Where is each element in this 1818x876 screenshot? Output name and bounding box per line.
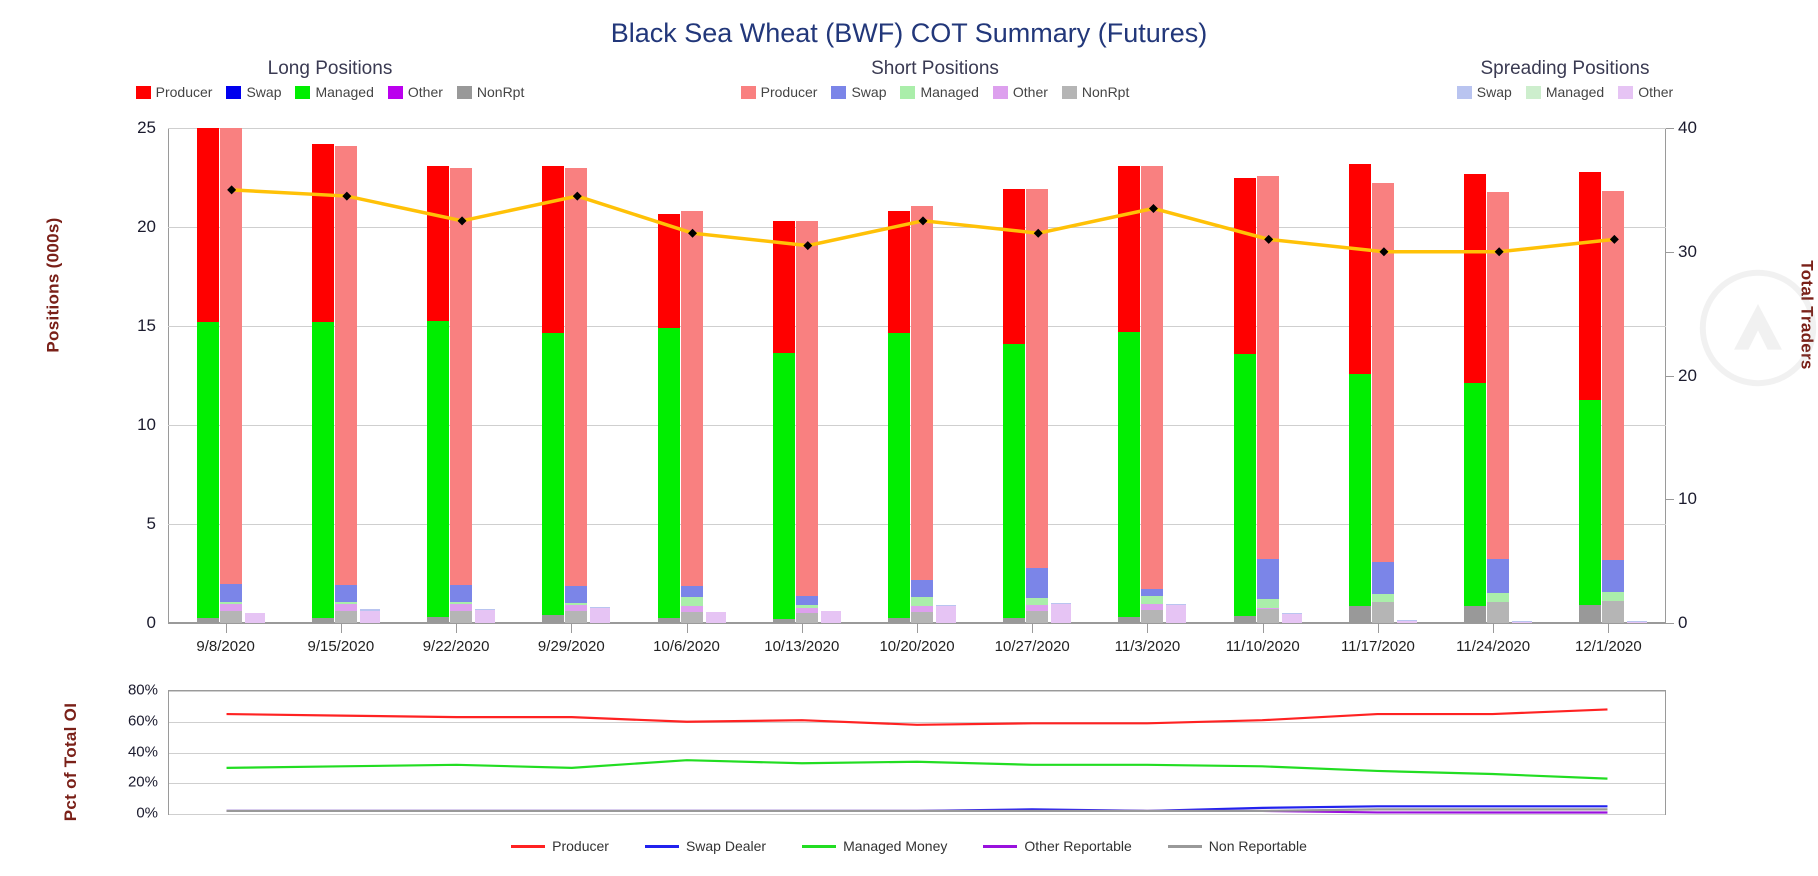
- pct-legend-label: Producer: [552, 838, 609, 854]
- bar-spreading-positions[interactable]: [936, 605, 956, 623]
- bar-long-positions[interactable]: [888, 211, 910, 623]
- pct-legend-label: Non Reportable: [1209, 838, 1307, 854]
- x-axis-tick-label: 10/6/2020: [653, 638, 720, 655]
- legend-item-short-nonrpt[interactable]: NonRpt: [1062, 84, 1129, 100]
- legend-item-short-other[interactable]: Other: [993, 84, 1048, 100]
- bar-spreading-positions[interactable]: [821, 611, 841, 623]
- bar-segment-producer: [1579, 172, 1601, 401]
- bar-segment-swap: [1026, 568, 1048, 599]
- bar-segment-producer: [1118, 166, 1140, 332]
- legend-item-spreading-other[interactable]: Other: [1618, 84, 1673, 100]
- bar-segment-nonrpt: [1349, 606, 1371, 623]
- x-axis-tick-label: 9/15/2020: [307, 638, 374, 655]
- bar-segment-nonrpt: [1372, 602, 1394, 623]
- bar-short-positions[interactable]: [1372, 183, 1394, 623]
- bar-short-positions[interactable]: [796, 221, 818, 623]
- bar-segment-nonrpt: [658, 618, 680, 623]
- swatch-icon: [457, 86, 472, 99]
- bar-segment-swap: [1602, 560, 1624, 593]
- y-axis-right-tick-label: 30: [1678, 242, 1734, 262]
- bar-short-positions[interactable]: [1602, 191, 1624, 623]
- bar-segment-producer: [1234, 178, 1256, 354]
- legend-spreading-heading: Spreading Positions: [1400, 58, 1730, 80]
- bar-segment-nonrpt: [1579, 605, 1601, 623]
- bar-segment-producer: [681, 211, 703, 586]
- pct-legend-item-producer[interactable]: Producer: [511, 838, 609, 854]
- y-axis-left-tick-label: 10: [100, 415, 156, 435]
- swatch-icon: [1457, 86, 1472, 99]
- y-axis-right-tick-mark: [1666, 252, 1674, 253]
- pct-gridline: [169, 814, 1665, 815]
- bar-segment-other: [245, 613, 265, 623]
- line-swatch-icon: [511, 845, 545, 848]
- bar-segment-nonrpt: [1257, 609, 1279, 623]
- bar-spreading-positions[interactable]: [1166, 604, 1186, 623]
- legend-item-long-nonrpt[interactable]: NonRpt: [457, 84, 524, 100]
- y-axis-left-tick-label: 5: [100, 514, 156, 534]
- bar-segment-nonrpt: [1602, 601, 1624, 623]
- bar-segment-nonrpt: [1003, 618, 1025, 623]
- bar-segment-producer: [1141, 166, 1163, 590]
- bar-segment-managed: [197, 322, 219, 618]
- x-axis-tick-label: 11/17/2020: [1341, 638, 1415, 655]
- bar-segment-nonrpt: [911, 612, 933, 623]
- legend-item-short-swap[interactable]: Swap: [831, 84, 886, 100]
- bar-long-positions[interactable]: [658, 214, 680, 623]
- bar-segment-managed: [1141, 596, 1163, 604]
- x-axis-tick-label: 10/27/2020: [995, 638, 1070, 655]
- x-axis-tick-mark: [917, 623, 918, 633]
- legend-label: Other: [1638, 84, 1673, 100]
- legend-item-short-producer[interactable]: Producer: [741, 84, 818, 100]
- swatch-icon: [136, 86, 151, 99]
- bar-short-positions[interactable]: [1141, 166, 1163, 623]
- y-axis-left-tick-label: 0: [100, 613, 156, 633]
- y-axis-left-tick-label: 25: [100, 118, 156, 138]
- pct-legend: Producer Swap Dealer Managed Money Other…: [0, 838, 1818, 854]
- bar-segment-managed: [1118, 332, 1140, 617]
- bar-segment-swap: [565, 586, 587, 603]
- bar-segment-nonrpt: [1118, 617, 1140, 623]
- bar-segment-swap: [450, 585, 472, 602]
- bar-segment-nonrpt: [1487, 602, 1509, 623]
- x-axis-tick-label: 11/10/2020: [1226, 638, 1300, 655]
- pct-axis-tick-label: 80%: [100, 682, 158, 699]
- bar-segment-producer: [911, 206, 933, 580]
- x-axis-tick-label: 9/22/2020: [423, 638, 490, 655]
- bar-segment-other: [1397, 621, 1417, 623]
- legend-label: Other: [1013, 84, 1048, 100]
- bar-segment-nonrpt: [197, 618, 219, 623]
- line-swatch-icon: [802, 845, 836, 848]
- bar-segment-nonrpt: [542, 615, 564, 623]
- x-axis-tick-label: 9/8/2020: [196, 638, 254, 655]
- legend-short-items: Producer Swap Managed Other NonRpt: [720, 84, 1150, 100]
- legend-label: Managed: [920, 84, 978, 100]
- bar-segment-managed: [773, 353, 795, 619]
- legend-label: Swap: [1477, 84, 1512, 100]
- legend-long-positions: Long Positions Producer Swap Managed Oth…: [110, 58, 550, 100]
- y-axis-right-tick-mark: [1666, 376, 1674, 377]
- legend-item-spreading-managed[interactable]: Managed: [1526, 84, 1604, 100]
- pct-legend-label: Other Reportable: [1024, 838, 1131, 854]
- bar-segment-producer: [565, 168, 587, 587]
- legend-label: Managed: [315, 84, 373, 100]
- bar-segment-managed: [1026, 598, 1048, 605]
- bar-spreading-positions[interactable]: [360, 609, 380, 623]
- x-axis-tick-label: 9/29/2020: [538, 638, 605, 655]
- bar-segment-managed: [1349, 374, 1371, 607]
- bar-segment-nonrpt: [565, 611, 587, 623]
- x-axis-tick-mark: [802, 623, 803, 633]
- swatch-icon: [741, 86, 756, 99]
- bar-segment-nonrpt: [1464, 606, 1486, 623]
- bar-segment-nonrpt: [312, 618, 334, 623]
- bar-long-positions[interactable]: [1118, 166, 1140, 623]
- bar-segment-swap: [796, 596, 818, 605]
- bar-segment-producer: [658, 214, 680, 328]
- bar-segment-managed: [888, 333, 910, 618]
- swatch-icon: [993, 86, 1008, 99]
- bar-segment-nonrpt: [681, 612, 703, 623]
- pct-legend-item-swap-dealer[interactable]: Swap Dealer: [645, 838, 766, 854]
- bar-segment-producer: [1026, 189, 1048, 567]
- bar-segment-nonrpt: [335, 611, 357, 623]
- x-axis-tick-mark: [341, 623, 342, 633]
- bar-segment-nonrpt: [427, 617, 449, 623]
- bar-segment-nonrpt: [773, 619, 795, 623]
- y-axis-title-left: Positions (000s): [44, 217, 64, 352]
- bar-segment-nonrpt: [220, 611, 242, 623]
- x-axis-tick-mark: [226, 623, 227, 633]
- bar-segment-other: [450, 604, 472, 611]
- bar-segment-managed: [1234, 354, 1256, 616]
- main-chart-plot-area: [168, 128, 1666, 623]
- legend-spreading-positions: Spreading Positions Swap Managed Other: [1400, 58, 1730, 100]
- x-axis-tick-mark: [1032, 623, 1033, 633]
- y-axis-left-tick-label: 20: [100, 217, 156, 237]
- bar-short-positions[interactable]: [1487, 192, 1509, 623]
- bar-segment-swap: [911, 580, 933, 597]
- x-axis-tick-mark: [1378, 623, 1379, 633]
- bar-segment-managed: [1257, 599, 1279, 608]
- pct-legend-item-non-reportable[interactable]: Non Reportable: [1168, 838, 1307, 854]
- bar-spreading-positions[interactable]: [1282, 613, 1302, 623]
- pct-legend-item-managed-money[interactable]: Managed Money: [802, 838, 947, 854]
- gridline: [168, 128, 1666, 129]
- y-axis-right-tick-label: 0: [1678, 613, 1734, 633]
- pct-legend-label: Swap Dealer: [686, 838, 766, 854]
- bar-segment-swap: [220, 584, 242, 602]
- bar-segment-producer: [1372, 183, 1394, 561]
- legend-label: NonRpt: [477, 84, 524, 100]
- bar-short-positions[interactable]: [450, 168, 472, 623]
- bar-segment-nonrpt: [796, 613, 818, 623]
- pct-axis-title: Pct of Total OI: [61, 703, 81, 821]
- bar-segment-managed: [681, 597, 703, 606]
- bar-long-positions[interactable]: [1234, 178, 1256, 623]
- swatch-icon: [831, 86, 846, 99]
- bar-segment-other: [590, 608, 610, 623]
- legend-item-long-producer[interactable]: Producer: [136, 84, 213, 100]
- x-axis-tick-label: 11/24/2020: [1456, 638, 1530, 655]
- bar-spreading-positions[interactable]: [1051, 603, 1071, 623]
- legend-item-long-other[interactable]: Other: [388, 84, 443, 100]
- bar-segment-other: [821, 611, 841, 623]
- bar-spreading-positions[interactable]: [1627, 621, 1647, 623]
- swatch-icon: [1618, 86, 1633, 99]
- x-axis-tick-mark: [571, 623, 572, 633]
- bar-long-positions[interactable]: [542, 166, 564, 623]
- bar-spreading-positions[interactable]: [245, 613, 265, 623]
- swatch-icon: [1062, 86, 1077, 99]
- y-axis-left-tick-label: 15: [100, 316, 156, 336]
- legend-item-long-swap[interactable]: Swap: [226, 84, 281, 100]
- bar-segment-other: [475, 610, 495, 623]
- legend-spreading-items: Swap Managed Other: [1400, 84, 1730, 100]
- bar-short-positions[interactable]: [335, 146, 357, 623]
- bar-spreading-positions[interactable]: [1397, 620, 1417, 623]
- bar-long-positions[interactable]: [773, 221, 795, 623]
- swatch-icon: [388, 86, 403, 99]
- bar-segment-swap: [1141, 589, 1163, 596]
- bar-segment-nonrpt: [1141, 610, 1163, 623]
- bar-segment-other: [220, 604, 242, 611]
- page-title: Black Sea Wheat (BWF) COT Summary (Futur…: [0, 18, 1818, 49]
- legend-label: Producer: [761, 84, 818, 100]
- x-axis-tick-mark: [1147, 623, 1148, 633]
- bar-segment-swap: [1257, 559, 1279, 599]
- legend-label: Swap: [246, 84, 281, 100]
- bar-segment-nonrpt: [888, 618, 910, 623]
- pct-axis-tick-label: 40%: [100, 743, 158, 760]
- pct-line-series: [169, 691, 1665, 814]
- x-axis-tick-label: 12/1/2020: [1575, 638, 1642, 655]
- x-axis-tick-mark: [456, 623, 457, 633]
- legend-long-items: Producer Swap Managed Other NonRpt: [110, 84, 550, 100]
- bar-long-positions[interactable]: [1464, 174, 1486, 623]
- swatch-icon: [226, 86, 241, 99]
- bar-segment-producer: [888, 211, 910, 333]
- x-axis-labels: 9/8/20209/15/20209/22/20209/29/202010/6/…: [168, 638, 1666, 662]
- bar-short-positions[interactable]: [681, 211, 703, 623]
- bar-segment-producer: [1349, 164, 1371, 374]
- y-axis-left-ticks: 2520151050: [100, 128, 156, 623]
- legend-long-heading: Long Positions: [110, 58, 550, 80]
- x-axis-tick-mark: [1493, 623, 1494, 633]
- bar-segment-producer: [542, 166, 564, 333]
- bar-segment-managed: [1487, 593, 1509, 602]
- y-axis-right-tick-label: 40: [1678, 118, 1734, 138]
- bar-segment-swap: [335, 585, 357, 602]
- bar-spreading-positions[interactable]: [475, 609, 495, 623]
- bar-segment-other: [335, 604, 357, 611]
- pct-of-total-oi-panel: [168, 690, 1666, 815]
- pct-axis-tick-label: 20%: [100, 774, 158, 791]
- bar-short-positions[interactable]: [1026, 189, 1048, 623]
- bar-short-positions[interactable]: [911, 206, 933, 623]
- bar-segment-other: [1051, 604, 1071, 623]
- bar-short-positions[interactable]: [220, 128, 242, 623]
- bar-segment-producer: [312, 144, 334, 322]
- legend-item-long-managed[interactable]: Managed: [295, 84, 373, 100]
- bar-segment-managed: [1602, 592, 1624, 601]
- pct-legend-label: Managed Money: [843, 838, 947, 854]
- bar-segment-producer: [1003, 189, 1025, 343]
- bar-segment-producer: [1487, 192, 1509, 558]
- bar-short-positions[interactable]: [565, 168, 587, 623]
- watermark-logo-icon: [1698, 268, 1818, 388]
- pct-line-producer: [227, 709, 1608, 724]
- bar-segment-managed: [542, 333, 564, 615]
- swatch-icon: [1526, 86, 1541, 99]
- bar-segment-producer: [197, 128, 219, 322]
- bar-segment-nonrpt: [1234, 616, 1256, 623]
- y-axis-right-tick-label: 10: [1678, 489, 1734, 509]
- x-axis-tick-mark: [687, 623, 688, 633]
- bar-segment-producer: [427, 166, 449, 321]
- bar-long-positions[interactable]: [197, 128, 219, 623]
- line-swatch-icon: [645, 845, 679, 848]
- bar-long-positions[interactable]: [1003, 189, 1025, 623]
- bar-long-positions[interactable]: [1349, 164, 1371, 623]
- pct-legend-item-other-reportable[interactable]: Other Reportable: [983, 838, 1131, 854]
- bar-segment-producer: [450, 168, 472, 586]
- x-axis-tick-label: 11/3/2020: [1115, 638, 1181, 655]
- bar-long-positions[interactable]: [1579, 172, 1601, 623]
- bar-segment-other: [706, 612, 726, 623]
- x-axis-tick-label: 10/13/2020: [764, 638, 839, 655]
- bar-segment-nonrpt: [450, 611, 472, 623]
- bar-segment-producer: [1464, 174, 1486, 384]
- x-axis-tick-mark: [1263, 623, 1264, 633]
- bar-spreading-positions[interactable]: [706, 612, 726, 623]
- bar-segment-managed: [658, 328, 680, 618]
- bar-segment-producer: [773, 221, 795, 353]
- bar-segment-producer: [796, 221, 818, 596]
- line-swatch-icon: [983, 845, 1017, 848]
- pct-axis-tick-label: 0%: [100, 805, 158, 822]
- bar-segment-swap: [1372, 562, 1394, 595]
- pct-line-non-reportable: [227, 809, 1608, 811]
- bar-segment-producer: [1257, 176, 1279, 559]
- legend-label: Other: [408, 84, 443, 100]
- bar-segment-managed: [1579, 400, 1601, 605]
- bar-segment-nonrpt: [1026, 611, 1048, 623]
- bar-segment-other: [360, 611, 380, 623]
- x-axis-tick-label: 10/20/2020: [879, 638, 954, 655]
- legend-label: Managed: [1546, 84, 1604, 100]
- legend-label: Swap: [851, 84, 886, 100]
- bar-spreading-positions[interactable]: [1512, 621, 1532, 623]
- bar-segment-managed: [312, 322, 334, 618]
- bar-segment-other: [936, 606, 956, 623]
- swatch-icon: [900, 86, 915, 99]
- y-axis-right-tick-mark: [1666, 499, 1674, 500]
- bar-spreading-positions[interactable]: [590, 607, 610, 623]
- bar-segment-other: [1512, 622, 1532, 623]
- bar-segment-other: [1282, 614, 1302, 623]
- bar-segment-managed: [1372, 594, 1394, 602]
- line-swatch-icon: [1168, 845, 1202, 848]
- bar-segment-managed: [427, 321, 449, 617]
- bar-segment-producer: [220, 128, 242, 584]
- bar-short-positions[interactable]: [1257, 176, 1279, 623]
- swatch-icon: [295, 86, 310, 99]
- x-axis-tick-mark: [1608, 623, 1609, 633]
- bar-long-positions[interactable]: [312, 144, 334, 623]
- axis-line-left: [168, 128, 169, 623]
- legend-label: Producer: [156, 84, 213, 100]
- pct-line-managed-money: [227, 760, 1608, 778]
- legend-item-short-managed[interactable]: Managed: [900, 84, 978, 100]
- legend-item-spreading-swap[interactable]: Swap: [1457, 84, 1512, 100]
- legend-short-heading: Short Positions: [720, 58, 1150, 80]
- bar-segment-swap: [1487, 559, 1509, 594]
- y-axis-right-tick-mark: [1666, 623, 1674, 624]
- bar-segment-other: [1627, 622, 1647, 623]
- bar-segment-managed: [1464, 383, 1486, 606]
- bar-long-positions[interactable]: [427, 166, 449, 623]
- pct-axis-tick-label: 60%: [100, 712, 158, 729]
- legend-short-positions: Short Positions Producer Swap Managed Ot…: [720, 58, 1150, 100]
- y-axis-right-tick-mark: [1666, 128, 1674, 129]
- pct-axis-ticks: 80%60%40%20%0%: [100, 690, 158, 815]
- bar-segment-managed: [1003, 344, 1025, 618]
- bar-segment-managed: [911, 597, 933, 606]
- bar-segment-other: [1166, 605, 1186, 623]
- bar-segment-producer: [1602, 191, 1624, 559]
- bar-segment-swap: [681, 586, 703, 597]
- bar-segment-producer: [335, 146, 357, 586]
- legend-label: NonRpt: [1082, 84, 1129, 100]
